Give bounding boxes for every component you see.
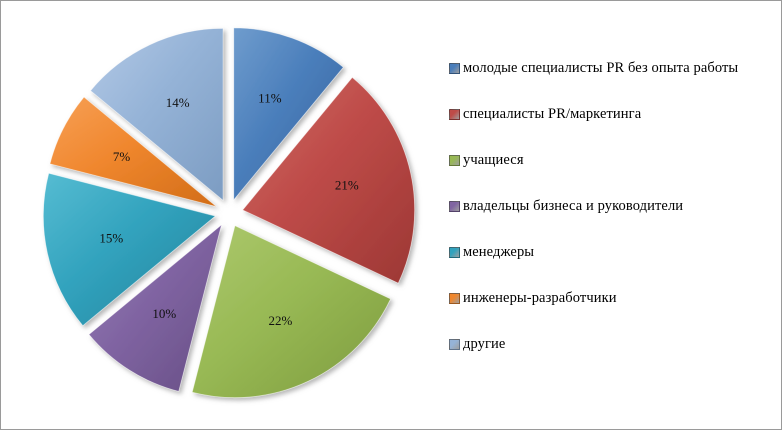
pie-slice-label-1: 21%: [335, 178, 359, 193]
pie-slice-label-0: 11%: [258, 90, 282, 105]
legend-swatch-icon-0: [449, 63, 460, 74]
legend-swatch-icon-2: [449, 155, 460, 166]
legend-item-2[interactable]: учащиеся: [449, 151, 775, 197]
legend-item-5[interactable]: инженеры-разработчики: [449, 289, 775, 335]
legend-swatch-icon-4: [449, 247, 460, 258]
legend-swatch-icon-6: [449, 339, 460, 350]
pie-slice-label-2: 22%: [268, 313, 292, 328]
legend-swatch-icon-1: [449, 109, 460, 120]
legend-label-2: учащиеся: [462, 151, 524, 170]
legend-item-3[interactable]: владельцы бизнеса и руководители: [449, 197, 775, 243]
pie-chart-figure: 11%21%22%10%15%7%14% молодые специалисты…: [0, 0, 782, 430]
pie-chart-svg: 11%21%22%10%15%7%14%: [1, 1, 441, 430]
legend-label-5: инженеры-разработчики: [462, 289, 617, 308]
legend-item-6[interactable]: другие: [449, 335, 775, 381]
legend-label-6: другие: [462, 335, 505, 354]
pie-slice-label-4: 15%: [99, 230, 123, 245]
pie-slice-label-3: 10%: [152, 306, 176, 321]
legend-swatch-icon-3: [449, 201, 460, 212]
legend-label-0: молодые специалисты PR без опыта работы: [462, 59, 738, 78]
pie-plot-area: 11%21%22%10%15%7%14%: [1, 1, 441, 430]
chart-legend: молодые специалисты PR без опыта работы …: [449, 59, 775, 381]
pie-slice-label-6: 14%: [166, 95, 190, 110]
legend-item-4[interactable]: менеджеры: [449, 243, 775, 289]
pie-slices: [43, 28, 414, 398]
legend-item-1[interactable]: специалисты PR/маркетинга: [449, 105, 775, 151]
legend-swatch-icon-5: [449, 293, 460, 304]
legend-item-0[interactable]: молодые специалисты PR без опыта работы: [449, 59, 775, 105]
legend-label-4: менеджеры: [462, 243, 534, 262]
legend-label-3: владельцы бизнеса и руководители: [462, 197, 683, 216]
legend-label-1: специалисты PR/маркетинга: [462, 105, 641, 124]
pie-slice-label-5: 7%: [113, 149, 131, 164]
